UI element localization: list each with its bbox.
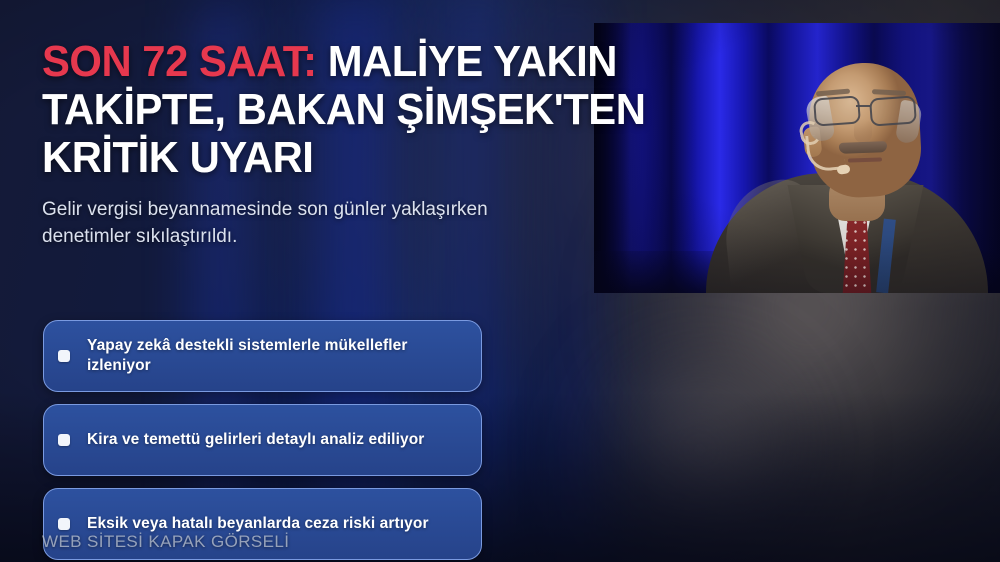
bullet-card-text: Kira ve temettü gelirleri detaylı analiz…: [87, 430, 424, 450]
bullet-card: Yapay zekâ destekli sistemlerle mükellef…: [43, 320, 482, 392]
bullet-card-list: Yapay zekâ destekli sistemlerle mükellef…: [43, 320, 483, 562]
cover-image-canvas: SON 72 SAAT: MALİYE YAKIN TAKİPTE, BAKAN…: [0, 0, 1000, 562]
headline-kicker: SON 72 SAAT:: [42, 37, 317, 86]
bullet-card: Kira ve temettü gelirleri detaylı analiz…: [43, 404, 482, 476]
watermark-label: WEB SİTESİ KAPAK GÖRSELİ: [42, 532, 289, 552]
square-bullet-icon: [58, 350, 70, 362]
headline: SON 72 SAAT: MALİYE YAKIN TAKİPTE, BAKAN…: [42, 38, 707, 182]
square-bullet-icon: [58, 518, 70, 530]
square-bullet-icon: [58, 434, 70, 446]
subtitle: Gelir vergisi beyannamesinde son günler …: [42, 196, 512, 250]
bullet-card-text: Eksik veya hatalı beyanlarda ceza riski …: [87, 514, 429, 534]
bullet-card-text: Yapay zekâ destekli sistemlerle mükellef…: [87, 336, 465, 376]
